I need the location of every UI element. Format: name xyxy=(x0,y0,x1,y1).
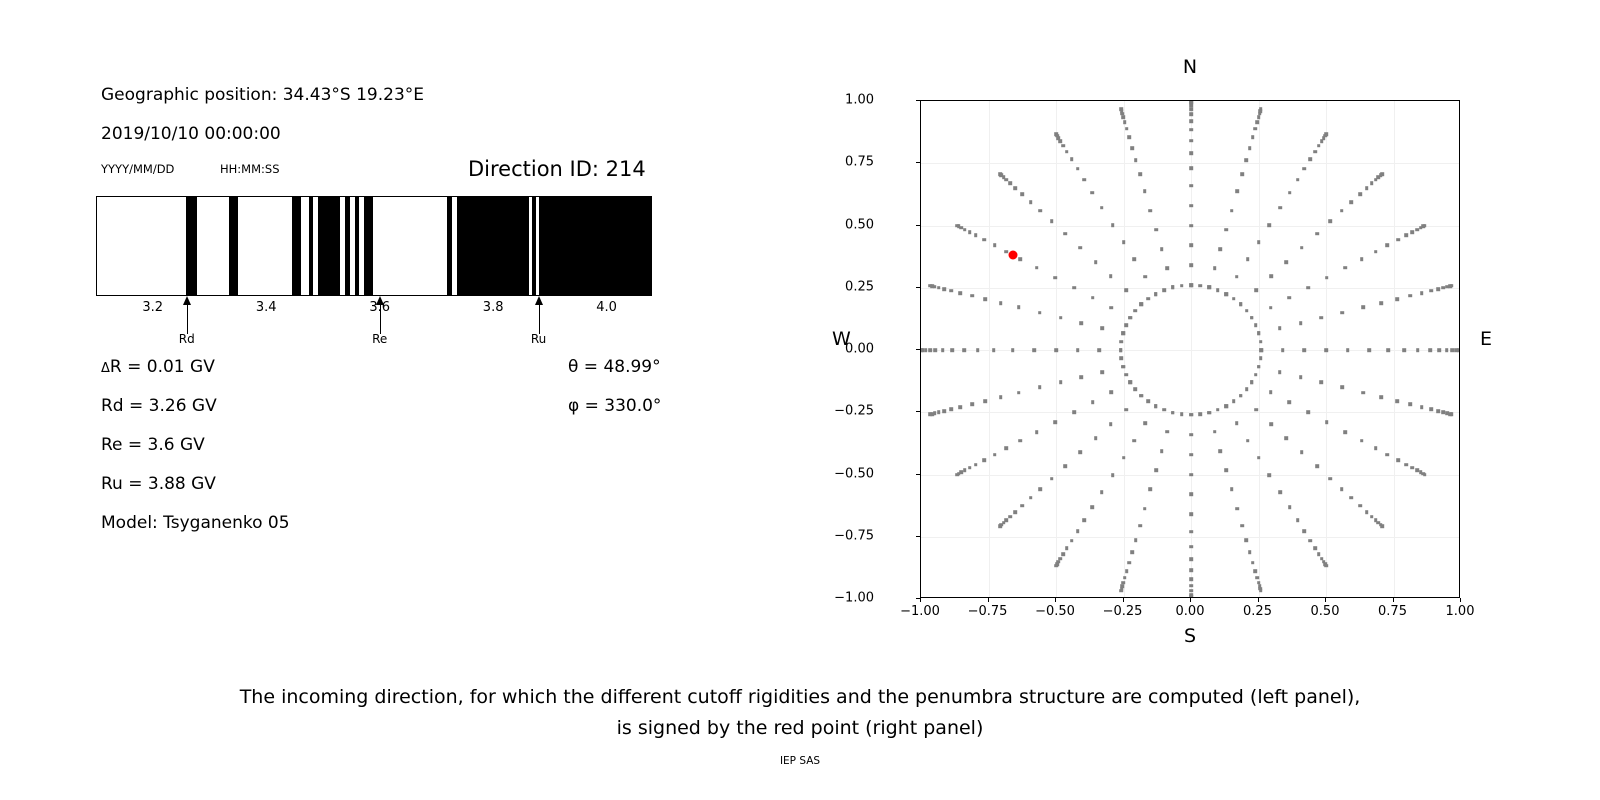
sky-map-point xyxy=(1259,589,1263,593)
sky-map-point xyxy=(1257,116,1261,120)
sky-map-point xyxy=(1213,266,1217,270)
sky-map-point xyxy=(1138,173,1142,177)
sky-map-ytick-mark xyxy=(916,162,920,163)
sky-map-point xyxy=(1004,447,1008,451)
penumbra-xtick-label: 3.2 xyxy=(142,300,163,315)
sky-map-point xyxy=(1370,181,1374,185)
sky-map-point xyxy=(1320,316,1324,320)
sky-map-point xyxy=(1038,311,1042,315)
sky-map-point xyxy=(1213,430,1217,434)
sky-map-xtick-label: −0.50 xyxy=(1035,604,1075,619)
sky-map-point xyxy=(1224,292,1228,296)
sky-map-xtick-label: 0.75 xyxy=(1378,604,1407,619)
sky-map-point xyxy=(1101,326,1105,330)
sky-map-point xyxy=(1180,284,1184,288)
sky-map-point xyxy=(1180,412,1184,416)
sky-map-point xyxy=(1070,539,1074,543)
sky-map-point xyxy=(1340,386,1344,390)
sky-map-point xyxy=(1143,422,1147,426)
sky-map-point xyxy=(968,230,972,234)
time-format-hint: HH:MM:SS xyxy=(220,162,280,176)
sky-map-point xyxy=(1080,321,1084,325)
sky-map-point xyxy=(992,348,996,352)
penumbra-band xyxy=(345,197,350,295)
sky-map-point xyxy=(1408,402,1412,406)
sky-map-point xyxy=(958,405,962,409)
delta-symbol: Δ xyxy=(101,361,110,376)
sky-map-point xyxy=(1124,408,1128,412)
sky-map-point xyxy=(1014,510,1018,514)
sky-map-point xyxy=(941,348,945,352)
sky-map-point xyxy=(1091,400,1095,404)
sky-map-point xyxy=(1063,464,1067,468)
sky-map-point xyxy=(1050,477,1054,481)
gridline-vertical xyxy=(1124,101,1125,597)
sky-map-point xyxy=(1133,439,1137,443)
compass-label-north: N xyxy=(1183,56,1197,78)
sky-map-point xyxy=(1340,311,1344,315)
sky-map-point xyxy=(1423,473,1427,477)
sky-map-point xyxy=(1408,294,1412,298)
sky-map-point xyxy=(1121,331,1125,335)
sky-map-point xyxy=(1189,283,1193,287)
direction-id-text: Direction ID: 214 xyxy=(468,157,646,181)
gridline-horizontal xyxy=(921,537,1459,538)
sky-map-ytick-label: 0.75 xyxy=(845,155,874,170)
sky-map-point xyxy=(1259,357,1263,361)
sky-map-point xyxy=(1395,297,1399,301)
sky-map-panel: N S W E 1.000.750.500.250.00−0.25−0.50−0… xyxy=(790,40,1550,660)
sky-map-point xyxy=(1350,496,1354,500)
sky-map-point xyxy=(1133,258,1137,262)
sky-map-point xyxy=(1014,186,1018,190)
sky-map-point xyxy=(1038,209,1042,213)
sky-map-point xyxy=(1189,577,1193,581)
figure-caption: The incoming direction, for which the di… xyxy=(0,682,1600,744)
sky-map-xtick-mark xyxy=(1460,598,1461,602)
sky-map-point xyxy=(1445,348,1449,352)
sky-map-point xyxy=(1149,488,1153,492)
sky-map-point xyxy=(1244,158,1248,162)
sky-map-point xyxy=(1235,275,1239,279)
sky-map-point xyxy=(1251,561,1255,565)
gridline-vertical xyxy=(1191,101,1192,597)
sky-map-point xyxy=(1017,391,1021,395)
sky-map-point xyxy=(1189,204,1193,208)
sky-map-point xyxy=(1160,247,1164,251)
sky-map-point xyxy=(1038,487,1042,491)
sky-map-point xyxy=(1358,504,1362,508)
sky-map-point xyxy=(1361,306,1365,310)
sky-map-point xyxy=(1450,413,1454,417)
sky-map-point xyxy=(1138,524,1142,528)
sky-map-point xyxy=(1380,301,1384,305)
sky-map-point xyxy=(1149,209,1153,213)
sky-map-point xyxy=(1396,238,1400,242)
sky-map-point xyxy=(1278,370,1282,374)
sky-map-point xyxy=(1320,380,1324,384)
penumbra-band xyxy=(532,197,536,295)
sky-map-point xyxy=(1134,538,1138,542)
sky-map-point xyxy=(1008,515,1012,519)
sky-map-point xyxy=(1189,100,1193,103)
sky-map-point xyxy=(1119,108,1123,112)
sky-map-ytick-label: 0.50 xyxy=(845,217,874,232)
sky-map-point xyxy=(1134,158,1138,162)
sky-map-point xyxy=(950,348,954,352)
sky-map-xtick-label: 0.50 xyxy=(1311,604,1340,619)
sky-map-point xyxy=(942,409,946,413)
sky-map-point xyxy=(1287,400,1291,404)
arrow-shaft xyxy=(539,303,540,334)
sky-map-point xyxy=(1299,375,1303,379)
sky-map-point xyxy=(1017,306,1021,310)
sky-map-point xyxy=(1100,491,1104,495)
sky-map-point xyxy=(1029,496,1033,500)
sky-map-xtick-mark xyxy=(1258,598,1259,602)
sky-map-point xyxy=(1109,422,1113,426)
sky-map-point xyxy=(1285,260,1289,264)
param-phi: φ = 330.0° xyxy=(568,396,661,416)
sky-map-point xyxy=(1248,550,1252,554)
sky-map-point xyxy=(1317,144,1321,148)
penumbra-band xyxy=(355,197,360,295)
penumbra-chart xyxy=(96,196,652,296)
sky-map-point xyxy=(1189,119,1193,123)
sky-map-point xyxy=(1061,552,1065,556)
sky-map-ytick-mark xyxy=(916,225,920,226)
penumbra-band xyxy=(447,197,452,295)
compass-label-south: S xyxy=(1184,625,1196,647)
sky-map-point xyxy=(1189,166,1193,170)
sky-map-point xyxy=(1232,297,1236,301)
sky-map-point xyxy=(993,453,997,457)
sky-map-point xyxy=(983,297,987,301)
sky-map-point xyxy=(1146,297,1150,301)
sky-map-point xyxy=(1436,287,1440,291)
sky-map-point xyxy=(1109,274,1113,278)
sky-map-point xyxy=(1050,220,1054,224)
sky-map-point xyxy=(1207,286,1211,290)
sky-map-point xyxy=(928,348,932,352)
sky-map-ytick-mark xyxy=(916,349,920,350)
sky-map-point xyxy=(1125,569,1129,573)
sky-map-point xyxy=(1063,232,1067,236)
sky-map-ytick-mark xyxy=(916,287,920,288)
sky-map-point xyxy=(1035,430,1039,434)
sky-map-point xyxy=(1029,200,1033,204)
param-re: Re = 3.6 GV xyxy=(101,435,205,455)
sky-map-point xyxy=(963,469,967,473)
sky-map-point xyxy=(1134,388,1138,392)
gridline-vertical xyxy=(1394,101,1395,597)
penumbra-xtick-label: 4.0 xyxy=(596,300,617,315)
sky-map-point xyxy=(1324,133,1328,137)
sky-map-point xyxy=(1189,513,1193,517)
sky-map-point xyxy=(1253,569,1257,573)
sky-map-point xyxy=(1020,504,1024,508)
sky-map-point xyxy=(1254,408,1258,412)
penumbra-band xyxy=(186,197,197,295)
sky-map-point xyxy=(1245,388,1249,392)
rigidity-marker-label: Re xyxy=(372,332,387,346)
sky-map-point xyxy=(1235,422,1239,426)
sky-map-point xyxy=(1059,316,1063,320)
penumbra-xtick-label: 3.8 xyxy=(483,300,504,315)
sky-map-point xyxy=(1054,420,1058,424)
sky-map-point xyxy=(1160,449,1164,453)
sky-map-ytick-label: −0.25 xyxy=(834,404,874,419)
sky-map-point xyxy=(1070,157,1074,161)
sky-map-point xyxy=(1094,436,1098,440)
sky-map-point xyxy=(1189,453,1193,457)
sky-map-point xyxy=(1423,224,1427,228)
sky-map-point xyxy=(1189,493,1193,497)
sky-map-point xyxy=(1300,450,1304,454)
sky-map-point xyxy=(1296,178,1300,182)
sky-map-point xyxy=(1083,178,1087,182)
sky-map-point xyxy=(1020,192,1024,196)
rigidity-marker-label: Ru xyxy=(531,332,546,346)
sky-map-point xyxy=(1189,433,1193,437)
sky-map-point xyxy=(1300,246,1304,250)
sky-map-point xyxy=(1111,223,1115,227)
sky-map-point xyxy=(1119,348,1123,352)
sky-map-point xyxy=(1140,302,1144,306)
sky-map-point xyxy=(1219,449,1223,453)
sky-map-point xyxy=(1340,487,1344,491)
penumbra-x-axis: 3.23.43.63.84.0RdReRu xyxy=(96,296,652,348)
sky-map-point xyxy=(1429,289,1433,293)
sky-map-point xyxy=(1255,120,1259,124)
sky-map-point xyxy=(998,172,1002,176)
sky-map-point xyxy=(970,402,974,406)
sky-map-point xyxy=(1054,564,1058,568)
penumbra-band xyxy=(318,197,340,295)
sky-map-point xyxy=(1346,348,1350,352)
sky-map-point xyxy=(1076,529,1080,533)
sky-map-point xyxy=(1127,135,1131,139)
sky-map-point xyxy=(1396,458,1400,462)
sky-map-point xyxy=(1219,247,1223,251)
sky-map-point xyxy=(1386,453,1390,457)
sky-map-point xyxy=(1320,140,1324,144)
caption-line-1: The incoming direction, for which the di… xyxy=(0,682,1600,713)
sky-map-point xyxy=(1315,464,1319,468)
sky-map-point xyxy=(1380,524,1384,528)
sky-map-point xyxy=(1072,410,1076,414)
arrow-shaft xyxy=(187,303,188,334)
sky-map-point xyxy=(962,348,966,352)
sky-map-point xyxy=(1154,404,1158,408)
sky-map-point xyxy=(1171,286,1175,290)
penumbra-band xyxy=(229,197,238,295)
sky-map-point xyxy=(1230,488,1234,492)
sky-map-point xyxy=(1124,373,1128,377)
sky-map-point xyxy=(1122,456,1126,460)
sky-map-point xyxy=(1278,491,1282,495)
sky-map-point xyxy=(1246,439,1250,443)
sky-map-point xyxy=(1344,430,1348,434)
sky-map-ytick-label: −0.75 xyxy=(834,528,874,543)
sky-map-ytick-label: 1.00 xyxy=(845,93,874,108)
sky-map-point xyxy=(949,289,953,293)
sky-map-point xyxy=(974,463,978,467)
sky-map-point xyxy=(1224,228,1228,232)
sky-map-point xyxy=(1374,447,1378,451)
sky-map-point xyxy=(955,224,959,228)
sky-map-point xyxy=(1019,257,1023,261)
sky-map-point xyxy=(1230,209,1234,213)
selected-direction-point[interactable] xyxy=(1008,251,1017,260)
sky-map-point xyxy=(1360,257,1364,261)
rigidity-marker-arrow-icon xyxy=(187,296,188,334)
penumbra-band xyxy=(539,197,652,295)
sky-map-point xyxy=(1306,286,1310,290)
sky-map-point xyxy=(1131,146,1135,150)
sky-map-point xyxy=(1110,391,1114,395)
sky-map-point xyxy=(955,473,959,477)
sky-map-point xyxy=(1395,399,1399,403)
sky-map-point xyxy=(1162,408,1166,412)
sky-map-point xyxy=(1380,172,1384,176)
sky-map-point xyxy=(1313,547,1317,551)
sky-map-point xyxy=(1091,191,1095,195)
sky-map-point xyxy=(1120,340,1124,344)
sky-map-point xyxy=(1436,409,1440,413)
geographic-position-text: Geographic position: 34.43°S 19.23°E xyxy=(101,85,424,105)
sky-map-point xyxy=(1296,519,1300,523)
sky-map-point xyxy=(1146,400,1150,404)
sky-map-point xyxy=(1111,473,1115,477)
sky-map-point xyxy=(1154,292,1158,296)
sky-map-point xyxy=(1189,151,1193,155)
sky-map-point xyxy=(1120,357,1124,361)
sky-map-point xyxy=(1340,209,1344,213)
sky-map-xtick-label: 1.00 xyxy=(1446,604,1475,619)
sky-map-point xyxy=(1125,127,1129,131)
sky-map-point xyxy=(1251,135,1255,139)
sky-map-point xyxy=(1386,348,1390,352)
sky-map-point xyxy=(1420,291,1424,295)
sky-map-point xyxy=(1171,411,1175,415)
sky-map-point xyxy=(1165,430,1169,434)
sky-map-point xyxy=(1101,370,1105,374)
sky-map-point xyxy=(1122,116,1126,120)
date-format-hint: YYYY/MM/DD xyxy=(101,162,174,176)
sky-map-plot-area xyxy=(920,100,1460,598)
penumbra-band xyxy=(292,197,301,295)
sky-map-point xyxy=(1365,186,1369,190)
sky-map-point xyxy=(1287,296,1291,300)
datetime-text: 2019/10/10 00:00:00 xyxy=(101,124,281,144)
sky-map-point xyxy=(1365,510,1369,514)
sky-map-point xyxy=(1124,323,1128,327)
sky-map-point xyxy=(1309,539,1313,543)
sky-map-point xyxy=(1061,144,1065,148)
sky-map-point xyxy=(998,524,1002,528)
sky-map-point xyxy=(1350,200,1354,204)
footer-note: IEP SAS xyxy=(0,755,1600,767)
sky-map-point xyxy=(1428,348,1432,352)
gridline-horizontal xyxy=(921,163,1459,164)
sky-map-point xyxy=(1411,466,1415,470)
sky-map-point xyxy=(1072,286,1076,290)
sky-map-point xyxy=(1285,436,1289,440)
sky-map-point xyxy=(1281,348,1285,352)
sky-map-point xyxy=(1189,557,1193,561)
sky-map-point xyxy=(1076,167,1080,171)
sky-map-xtick-mark xyxy=(920,598,921,602)
gridline-vertical xyxy=(989,101,990,597)
sky-map-point xyxy=(1257,365,1261,369)
param-theta: θ = 48.99° xyxy=(568,357,661,377)
sky-map-point xyxy=(1054,276,1058,280)
param-rd: Rd = 3.26 GV xyxy=(101,396,217,416)
sky-map-point xyxy=(1253,127,1257,131)
sky-map-point xyxy=(1250,316,1254,320)
sky-map-point xyxy=(1420,405,1424,409)
sky-map-point xyxy=(1189,569,1193,573)
sky-map-point xyxy=(1054,133,1058,137)
sky-map-point xyxy=(1317,552,1321,556)
sky-map-point xyxy=(1189,112,1193,116)
sky-map-point xyxy=(1134,309,1138,313)
sky-map-point xyxy=(1065,150,1069,154)
sky-map-point xyxy=(1269,274,1273,278)
sky-map-point xyxy=(1008,181,1012,185)
sky-map-point xyxy=(1244,538,1248,542)
sky-map-ytick-mark xyxy=(916,100,920,101)
sky-map-point xyxy=(1380,395,1384,399)
sky-map-point xyxy=(1325,420,1329,424)
param-delta-r-value: R = 0.01 GV xyxy=(110,357,215,377)
sky-map-point xyxy=(982,458,986,462)
sky-map-point xyxy=(1324,564,1328,568)
sky-map-point xyxy=(1278,326,1282,330)
sky-map-point xyxy=(1325,276,1329,280)
sky-map-point xyxy=(974,234,978,238)
sky-map-xtick-label: −0.75 xyxy=(968,604,1008,619)
sky-map-ytick-label: 0.25 xyxy=(845,279,874,294)
sky-map-xtick-label: 0.00 xyxy=(1176,604,1205,619)
sky-map-point xyxy=(1429,407,1433,411)
sky-map-point xyxy=(928,413,932,417)
sky-map-point xyxy=(1189,107,1193,111)
sky-map-point xyxy=(949,407,953,411)
sky-map-point xyxy=(1189,584,1193,588)
sky-map-point xyxy=(1450,284,1454,288)
sky-map-point xyxy=(1268,223,1272,227)
penumbra-xtick-label: 3.4 xyxy=(256,300,277,315)
sky-map-point xyxy=(1123,120,1127,124)
sky-map-point xyxy=(1080,375,1084,379)
sky-map-point xyxy=(1128,381,1132,385)
sky-map-xtick-mark xyxy=(1190,598,1191,602)
sky-map-point xyxy=(1303,348,1307,352)
sky-map-point xyxy=(1240,173,1244,177)
sky-map-point xyxy=(1288,506,1292,510)
sky-map-point xyxy=(999,301,1003,305)
sky-map-point xyxy=(1004,250,1008,254)
sky-map-point xyxy=(1189,244,1193,248)
sky-map-point xyxy=(1411,230,1415,234)
sky-map-xtick-label: −1.00 xyxy=(900,604,940,619)
sky-map-point xyxy=(1065,547,1069,551)
sky-map-point xyxy=(1189,264,1193,268)
param-ru: Ru = 3.88 GV xyxy=(101,474,216,494)
sky-map-point xyxy=(1127,561,1131,565)
